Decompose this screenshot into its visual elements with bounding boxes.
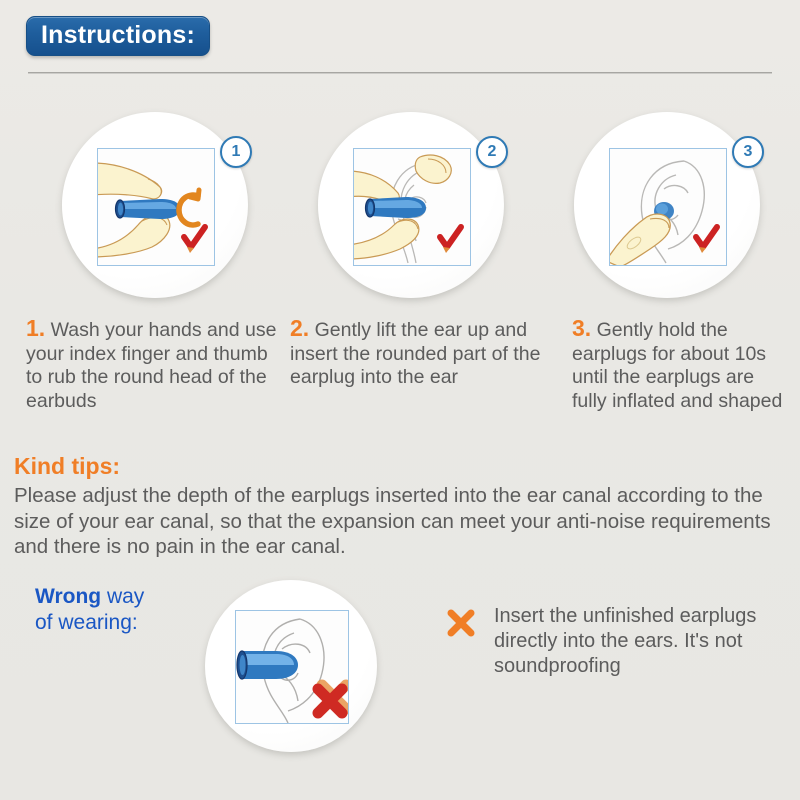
step-2-text-block: 2. Gently lift the ear up and insert the…	[290, 317, 545, 390]
wrong-way-illustration-circle	[205, 580, 377, 752]
unrolled-earplug-next-to-ear-icon	[236, 611, 348, 723]
finger-holding-earplug-in-ear-icon	[610, 149, 726, 265]
instruction-sheet: Instructions:	[0, 0, 800, 800]
step-2-description: Gently lift the ear up and insert the ro…	[290, 319, 540, 388]
step-3-number-badge: 3	[732, 136, 764, 168]
red-x-icon	[318, 685, 346, 713]
step-1-panel	[97, 148, 215, 266]
step-3-number: 3.	[572, 315, 591, 341]
orange-x-icon	[446, 608, 476, 638]
step-3-text-block: 3. Gently hold the earplugs for about 10…	[572, 317, 792, 413]
wrong-way-warning: Insert the unfinished earplugs directly …	[446, 604, 786, 679]
red-check-icon	[440, 227, 461, 253]
step-2-panel	[353, 148, 471, 266]
step-3-illustration-circle: 3	[574, 112, 760, 298]
step-1-illustration-circle: 1	[62, 112, 248, 298]
step-2-number-badge: 2	[476, 136, 508, 168]
step-2-illustration-circle: 2	[318, 112, 504, 298]
red-check-icon	[184, 227, 205, 253]
wrong-way-warning-text: Insert the unfinished earplugs directly …	[494, 604, 786, 679]
step-1-number: 1.	[26, 315, 45, 341]
kind-tips-body: Please adjust the depth of the earplugs …	[14, 483, 784, 560]
hand-lifting-ear-inserting-earplug-icon	[354, 149, 470, 265]
orange-rotate-arrow-icon	[179, 190, 199, 225]
step-2-number: 2.	[290, 315, 309, 341]
wrong-way-label-line2: of wearing:	[35, 611, 138, 634]
fingers-rolling-earplug-icon	[98, 149, 214, 265]
wrong-way-label-strong: Wrong	[35, 585, 101, 608]
red-check-icon	[696, 227, 717, 253]
step-1-number-badge: 1	[220, 136, 252, 168]
page-title: Instructions:	[26, 16, 210, 56]
wrong-way-label: Wrong way of wearing:	[35, 584, 205, 636]
wrong-way-label-rest: way	[101, 585, 144, 608]
step-1-description: Wash your hands and use your index finge…	[26, 319, 276, 412]
step-1-text-block: 1. Wash your hands and use your index fi…	[26, 317, 286, 413]
header-divider	[28, 72, 772, 74]
step-3-panel	[609, 148, 727, 266]
step-3-description: Gently hold the earplugs for about 10s u…	[572, 319, 782, 412]
wrong-way-panel	[235, 610, 349, 724]
kind-tips-title: Kind tips:	[14, 453, 120, 480]
